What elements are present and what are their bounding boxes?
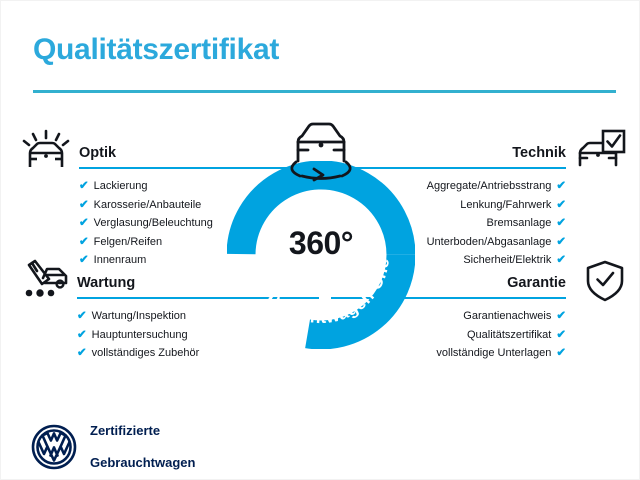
section-technik-title: Technik: [512, 145, 566, 161]
certificate-canvas: Qualitätszertifikat: [0, 0, 640, 480]
footer-brand: Zertifizierte Gebrauchtwagen: [31, 407, 195, 480]
car-checkbox-icon: [574, 129, 626, 176]
check-icon: ✔: [556, 199, 566, 211]
section-wartung-title: Wartung: [77, 275, 135, 291]
check-icon: ✔: [79, 199, 89, 211]
list-item-label: Hauptuntersuchung: [92, 329, 188, 341]
check-icon: ✔: [79, 236, 89, 248]
check-icon: ✔: [556, 310, 566, 322]
section-optik-title: Optik: [79, 145, 116, 161]
list-item-label: Lackierung: [94, 180, 148, 192]
check-icon: ✔: [77, 310, 87, 322]
header-divider: [33, 90, 616, 93]
footer-line-2: Gebrauchtwagen: [90, 455, 195, 471]
check-icon: ✔: [77, 347, 87, 359]
section-garantie-title: Garantie: [507, 275, 566, 291]
check-icon: ✔: [556, 180, 566, 192]
page-title: Qualitätszertifikat: [33, 33, 279, 67]
list-item-label: Bremsanlage: [487, 217, 552, 229]
list-item-label: Karosserie/Anbauteile: [94, 199, 202, 211]
footer-text: Zertifizierte Gebrauchtwagen: [90, 407, 195, 480]
check-icon: ✔: [77, 329, 87, 341]
vw-logo: [31, 424, 77, 470]
car-front-rotate-icon: [278, 118, 364, 184]
list-item-label: Qualitätszertifikat: [467, 329, 551, 341]
list-item-label: Unterboden/Abgasanlage: [427, 236, 552, 248]
list-item-label: Lenkung/Fahrwerk: [460, 199, 551, 211]
shield-check-icon: [584, 259, 626, 308]
car-shine-icon: [21, 129, 71, 176]
360-check-badge: Gebrauchtwagen-Check 360°: [227, 161, 415, 349]
footer-line-1: Zertifizierte: [90, 423, 195, 439]
check-icon: ✔: [556, 329, 566, 341]
car-service-pen-icon: [19, 259, 71, 306]
badge-center-text: 360°: [227, 225, 415, 262]
check-icon: ✔: [556, 217, 566, 229]
list-item-label: Verglasung/Beleuchtung: [94, 217, 213, 229]
list-item-label: Felgen/Reifen: [94, 236, 163, 248]
check-icon: ✔: [556, 236, 566, 248]
list-item-label: vollständiges Zubehör: [92, 347, 200, 359]
list-item-label: vollständige Unterlagen: [436, 347, 551, 359]
check-icon: ✔: [79, 180, 89, 192]
check-icon: ✔: [79, 217, 89, 229]
check-icon: ✔: [556, 347, 566, 359]
list-item-label: Garantienachweis: [463, 310, 551, 322]
list-item-label: Aggregate/Antriebsstrang: [427, 180, 552, 192]
list-item-label: Wartung/Inspektion: [92, 310, 186, 322]
